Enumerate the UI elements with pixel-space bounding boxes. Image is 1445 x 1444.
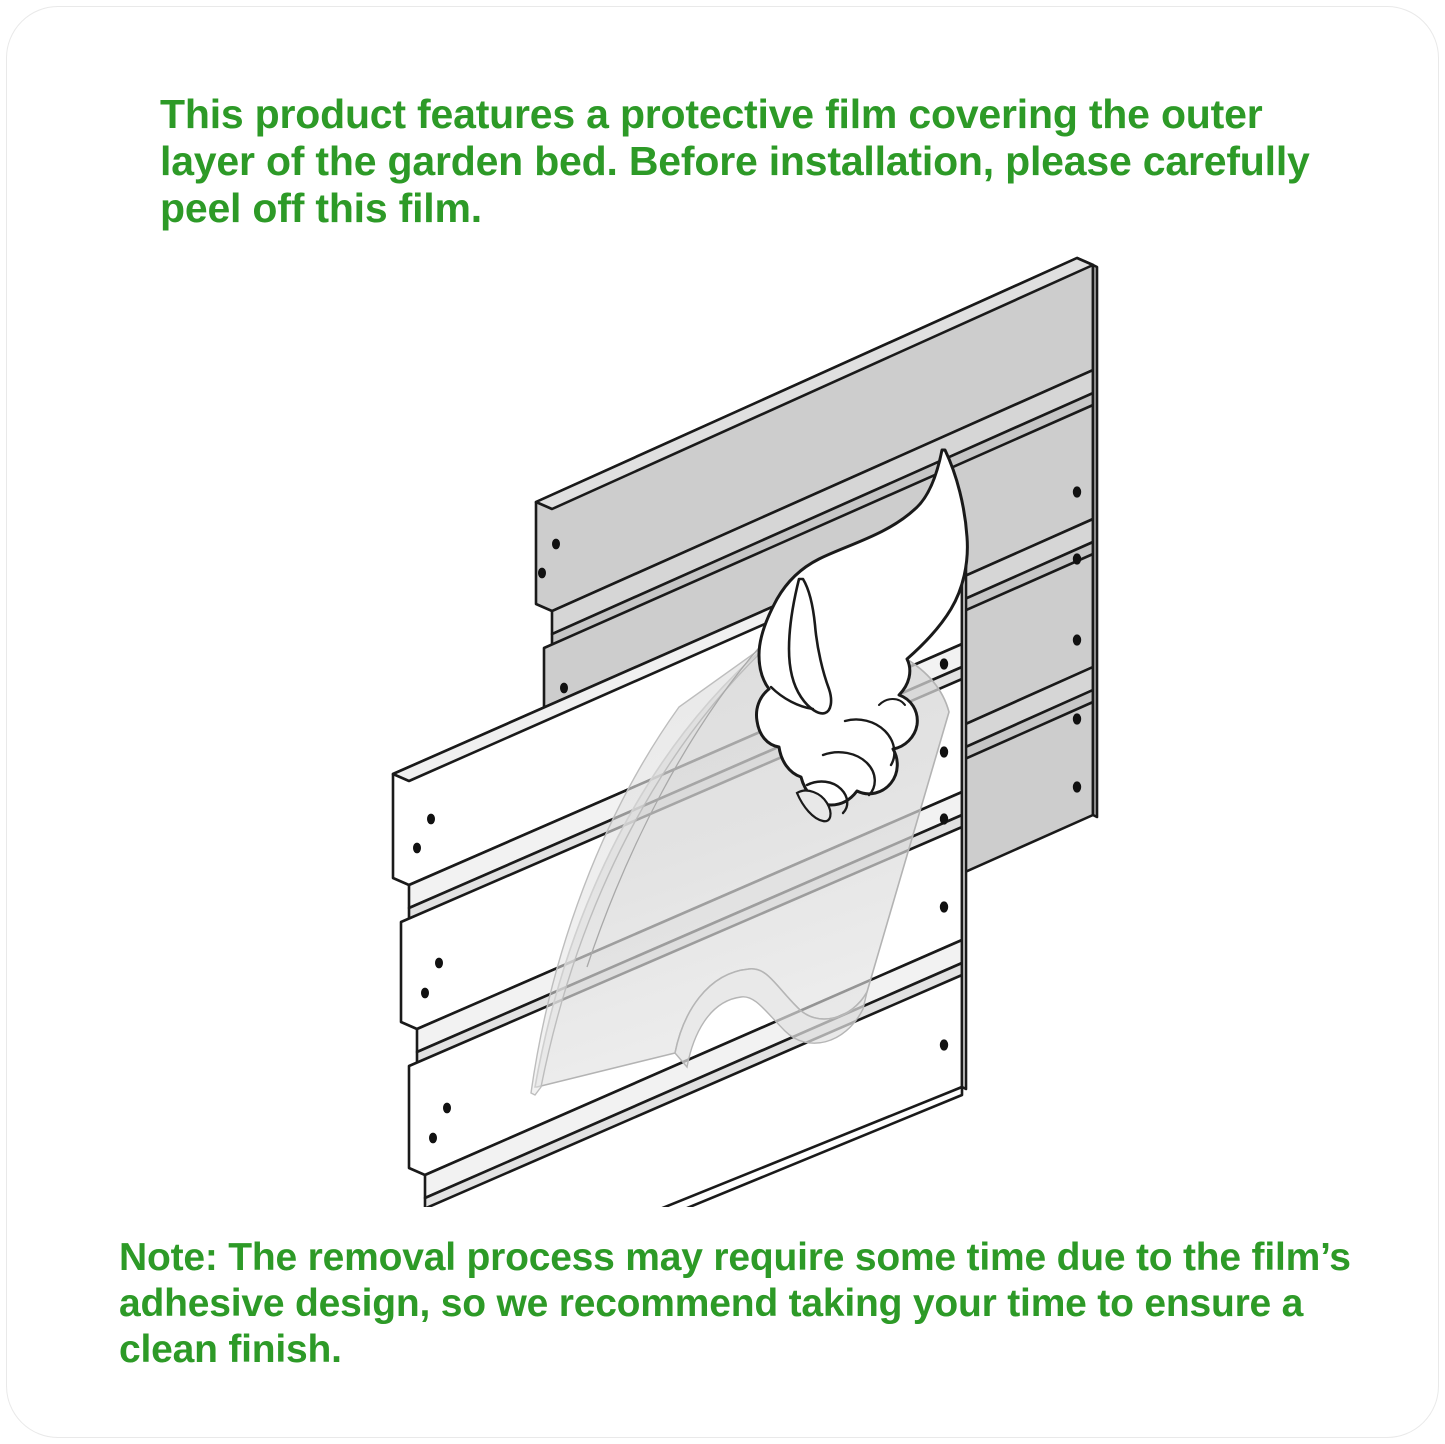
page-note-text: Note: The removal process may require so… — [119, 1235, 1359, 1373]
garden-bed-panel-film-peel-diagram — [7, 207, 1445, 1207]
illustration-container — [7, 207, 1445, 1207]
instruction-card: This product features a protective film … — [6, 6, 1439, 1438]
upper-panel-right-edge — [1093, 265, 1097, 817]
lower-panel-right-edge — [962, 537, 966, 1089]
screenshot-root: This product features a protective film … — [0, 0, 1445, 1444]
